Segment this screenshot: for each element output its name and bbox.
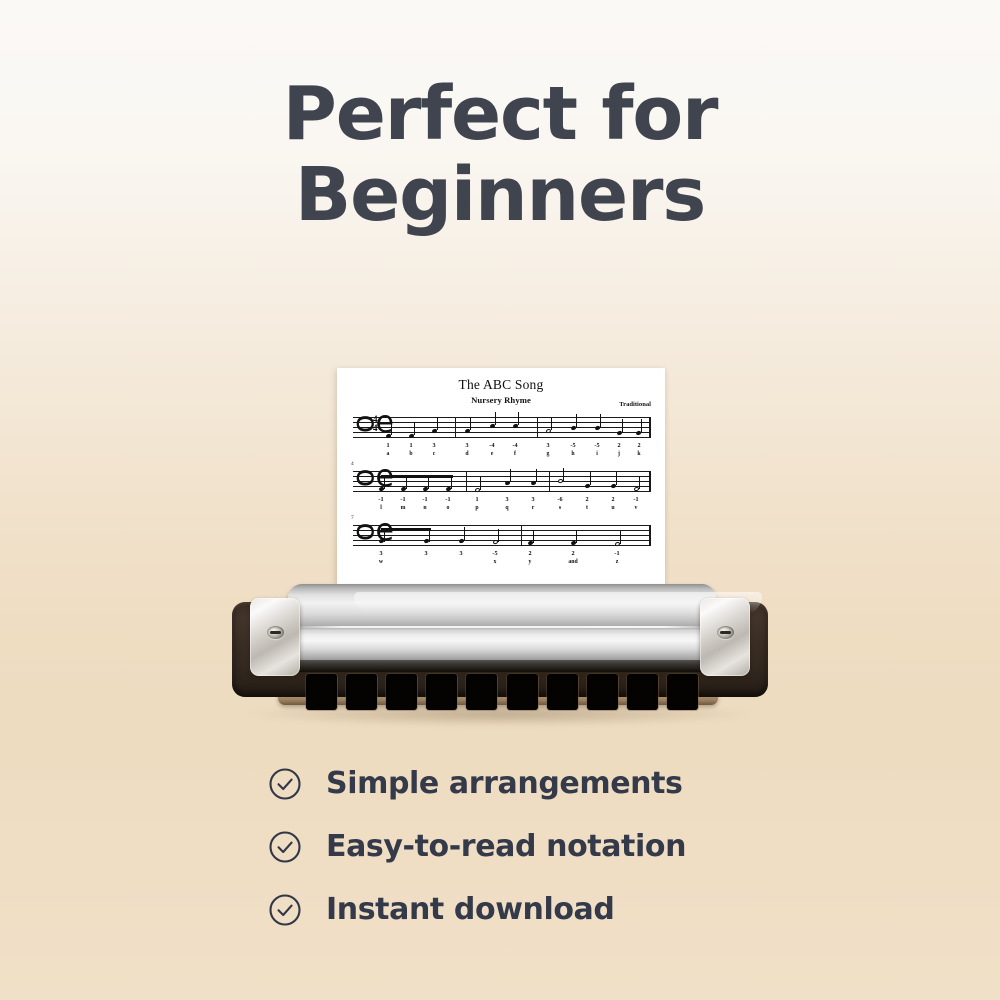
tab-lyric: a	[387, 451, 390, 457]
note-stem	[600, 414, 601, 427]
barline	[466, 471, 467, 492]
staff-systems: ᴑe 4 4	[351, 417, 651, 579]
feature-list: Simple arrangements Easy-to-read notatio…	[268, 752, 788, 941]
cover-ridge	[290, 626, 714, 628]
staff-line	[353, 545, 651, 546]
tab-lyric: j	[618, 451, 620, 457]
note-stem	[590, 472, 591, 485]
feature-label: Easy-to-read notation	[326, 829, 686, 864]
tab-lyric: q	[505, 505, 508, 511]
tab-number: 2	[571, 550, 574, 557]
tab-number: 2	[528, 550, 531, 557]
tab-lyric: and	[568, 559, 577, 565]
staff-line	[353, 422, 651, 423]
tab-number: -1	[400, 496, 405, 503]
circle-check-icon	[268, 767, 302, 801]
tab-number: 2	[617, 442, 620, 449]
staff-line	[353, 540, 651, 541]
tab-number: 2	[585, 496, 588, 503]
tab-lyric: k	[637, 451, 640, 457]
tab-number: -1	[378, 496, 383, 503]
harmonica-hole	[306, 674, 337, 710]
staff-system-3: 7 ᴑe	[351, 525, 651, 579]
tab-number: -5	[570, 442, 575, 449]
harmonica-hole	[466, 674, 497, 710]
tab-number: 3	[531, 496, 534, 503]
tab-lyric: r	[532, 505, 535, 511]
note-stem	[428, 476, 429, 489]
note-stem	[616, 472, 617, 485]
staff-line	[353, 417, 651, 418]
note-stem	[480, 477, 481, 490]
barline	[549, 471, 550, 492]
note-stem	[620, 531, 621, 544]
tab-number: 2	[611, 496, 614, 503]
staff-system-2: 4 ᴑe	[351, 471, 651, 525]
tab-lyric: n	[423, 505, 426, 511]
note-stem	[384, 476, 385, 489]
time-signature-bottom: 4	[373, 424, 378, 433]
barline	[521, 525, 522, 546]
tab-lyric: p	[475, 505, 478, 511]
note-stem	[451, 476, 452, 489]
note-stem	[429, 529, 430, 542]
note-stem	[437, 417, 438, 430]
tab-lyric: e	[491, 451, 494, 457]
note-stem	[576, 414, 577, 427]
note-beam	[381, 475, 453, 478]
page-title-line-2: Beginners	[0, 159, 1000, 232]
tab-number: 3	[432, 442, 435, 449]
staff-1: ᴑe 4 4	[353, 417, 651, 439]
page-title-line-1: Perfect for	[283, 71, 718, 157]
tab-number: -4	[489, 442, 494, 449]
tab-lyric: g	[547, 451, 550, 457]
tab-number: -1	[633, 496, 638, 503]
barline-end	[649, 471, 651, 492]
tab-lyric: b	[409, 451, 412, 457]
note-stem	[391, 422, 392, 435]
tab-lyric: x	[494, 559, 497, 565]
tab-number: 3	[379, 550, 382, 557]
screw-icon	[267, 626, 284, 639]
page-title: Perfect for Beginners	[0, 78, 1000, 231]
tab-lyric: t	[586, 505, 588, 511]
tab-lyric: y	[529, 559, 532, 565]
screw-icon	[717, 626, 734, 639]
measure-number: 7	[351, 515, 354, 521]
note-stem	[470, 417, 471, 430]
note-stem	[518, 412, 519, 425]
note-stem	[536, 469, 537, 482]
staff-line	[353, 481, 651, 482]
note-stem	[551, 417, 552, 430]
staff-line	[353, 437, 651, 438]
tab-lyric: m	[401, 505, 406, 511]
note-stem	[533, 530, 534, 543]
note-beam	[381, 528, 431, 531]
tab-lyric: f	[514, 451, 516, 457]
sheet-subtitle: Nursery Rhyme	[351, 395, 651, 405]
feature-item: Easy-to-read notation	[268, 815, 788, 878]
tab-number: -1	[422, 496, 427, 503]
time-signature: 4 4	[373, 415, 378, 433]
staff-system-1: ᴑe 4 4	[351, 417, 651, 471]
measure-number: 4	[351, 461, 354, 467]
note-stem	[498, 529, 499, 542]
staff-line	[353, 535, 651, 536]
harmonica-hole	[587, 674, 618, 710]
tablature-row-1: 1 a 1 b 3 c 3 d -4 e -4 f 3 g -5	[351, 442, 651, 462]
harmonica-illustration	[232, 584, 768, 723]
tab-number: 1	[386, 442, 389, 449]
tablature-row-3: 3 w 3 3 -5 x 2 y 2 and -1 z	[351, 550, 651, 570]
harmonica-hole	[547, 674, 578, 710]
harmonica-hole	[627, 674, 658, 710]
note-stem	[641, 419, 642, 432]
harmonica-hole	[346, 674, 377, 710]
tab-lyric: v	[635, 505, 638, 511]
note-stem	[510, 469, 511, 482]
staff-line	[353, 486, 651, 487]
harmonica-endplate-right	[700, 598, 750, 676]
tab-lyric: i	[596, 451, 598, 457]
tab-number: 2	[637, 442, 640, 449]
note-stem	[563, 468, 564, 481]
feature-item: Simple arrangements	[268, 752, 788, 815]
harmonica-endplate-left	[250, 598, 300, 676]
sheet-title: The ABC Song	[351, 377, 651, 393]
tab-number: 1	[409, 442, 412, 449]
staff-3: ᴑe	[353, 525, 651, 547]
sheet-credit: Traditional	[619, 401, 651, 408]
note-stem	[495, 412, 496, 425]
tab-number: -5	[492, 550, 497, 557]
note-stem	[576, 530, 577, 543]
tab-number: 3	[546, 442, 549, 449]
staff-line	[353, 491, 651, 492]
harmonica-hole	[667, 674, 698, 710]
treble-clef-icon: ᴑe	[355, 516, 394, 546]
tab-lyric: s	[559, 505, 561, 511]
tab-number: -6	[557, 496, 562, 503]
feature-label: Instant download	[326, 892, 614, 927]
tablature-row-2: -1 l -1 m -1 n -1 o 1 p 3 q 3 r	[351, 496, 651, 516]
barline	[455, 417, 456, 438]
tab-lyric: w	[379, 559, 383, 565]
harmonica-hole	[426, 674, 457, 710]
note-stem	[414, 422, 415, 435]
barline	[537, 417, 538, 438]
harmonica-hole-row	[306, 674, 698, 710]
note-stem	[464, 527, 465, 540]
tab-number: 3	[465, 442, 468, 449]
circle-check-icon	[268, 830, 302, 864]
promo-graphic: Perfect for Beginners The ABC Song Nurse…	[0, 0, 1000, 1000]
tab-number: -1	[614, 550, 619, 557]
note-stem	[639, 476, 640, 489]
staff-line	[353, 525, 651, 526]
tab-number: 1	[475, 496, 478, 503]
tab-number: -1	[445, 496, 450, 503]
cover-shadow-edge	[290, 660, 714, 672]
tab-number: -4	[512, 442, 517, 449]
tab-lyric: d	[465, 451, 468, 457]
barline-end	[649, 417, 651, 438]
tab-lyric: c	[433, 451, 436, 457]
staff-line	[353, 427, 651, 428]
note-stem	[622, 419, 623, 432]
barline-end	[649, 525, 651, 546]
tab-lyric: o	[447, 505, 450, 511]
tab-lyric: h	[571, 451, 574, 457]
circle-check-icon	[268, 893, 302, 927]
tab-lyric: u	[611, 505, 614, 511]
harmonica-hole	[386, 674, 417, 710]
harmonica-hole	[507, 674, 538, 710]
note-stem	[384, 529, 385, 542]
tab-number: -5	[594, 442, 599, 449]
tab-number: 3	[424, 550, 427, 557]
staff-line	[353, 471, 651, 472]
tab-number: 3	[459, 550, 462, 557]
staff-2: ᴑe	[353, 471, 651, 493]
feature-item: Instant download	[268, 878, 788, 941]
tab-lyric: l	[380, 505, 382, 511]
sheet-music-page: The ABC Song Nursery Rhyme Traditional ᴑ…	[337, 368, 665, 586]
tab-lyric: z	[616, 559, 619, 565]
staff-line	[353, 432, 651, 433]
note-stem	[406, 476, 407, 489]
tab-number: 3	[505, 496, 508, 503]
feature-label: Simple arrangements	[326, 766, 683, 801]
